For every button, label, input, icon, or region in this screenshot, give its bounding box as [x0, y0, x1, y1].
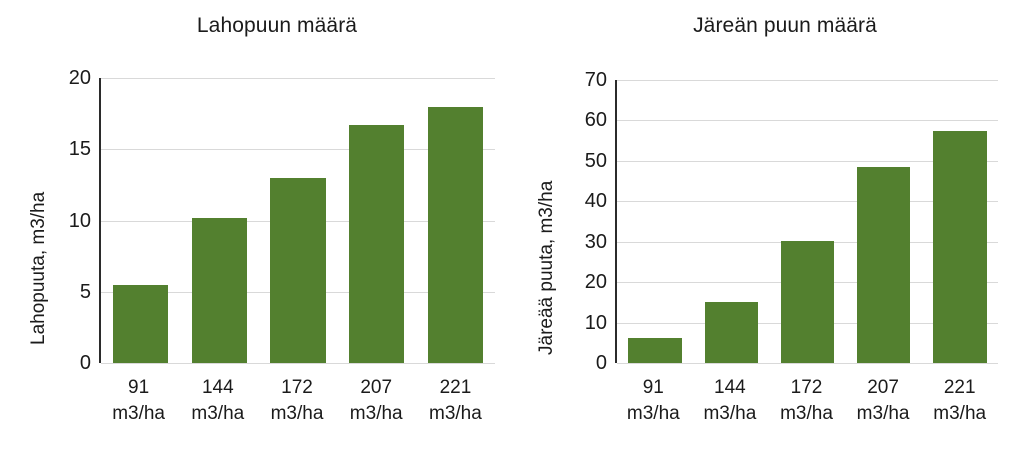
bar-slot — [180, 78, 259, 363]
plot-wrap-right: 010203040506070 91m3/ha144m3/ha172m3/ha2… — [615, 80, 998, 363]
bar-slot — [416, 78, 495, 363]
y-tick-label: 0 — [80, 353, 91, 373]
x-axis-label-unit: m3/ha — [337, 401, 416, 427]
x-axis-label-value: 91 — [99, 375, 178, 401]
x-axis-label-value: 172 — [257, 375, 336, 401]
y-tick-label: 5 — [80, 282, 91, 302]
x-axis-label-value: 207 — [845, 375, 922, 401]
x-axis-label-unit: m3/ha — [845, 401, 922, 427]
x-axis-label-unit: m3/ha — [692, 401, 769, 427]
y-tick-label: 20 — [585, 272, 607, 292]
bar-slot — [846, 80, 922, 363]
x-axis-label: 221m3/ha — [416, 375, 495, 426]
y-axis-ticks-left: 05101520 — [43, 78, 91, 363]
bar-slot — [922, 80, 998, 363]
x-axis-label-unit: m3/ha — [615, 401, 692, 427]
y-tick-label: 20 — [69, 68, 91, 88]
y-tick-label: 0 — [596, 353, 607, 373]
plot-wrap-left: 05101520 91m3/ha144m3/ha172m3/ha207m3/ha… — [99, 78, 495, 363]
bar — [270, 178, 325, 363]
x-axis-labels-left: 91m3/ha144m3/ha172m3/ha207m3/ha221m3/ha — [99, 363, 495, 426]
bar-slot — [101, 78, 180, 363]
x-axis-label: 207m3/ha — [845, 375, 922, 426]
x-axis-label-value: 172 — [768, 375, 845, 401]
bar-series-right — [617, 80, 998, 363]
y-tick-label: 10 — [585, 313, 607, 333]
x-axis-label: 207m3/ha — [337, 375, 416, 426]
bar-slot — [259, 78, 338, 363]
chart-title-left: Lahopuun määrä — [0, 14, 512, 38]
x-axis-label: 172m3/ha — [768, 375, 845, 426]
bar-series-left — [101, 78, 495, 363]
x-axis-labels-right: 91m3/ha144m3/ha172m3/ha207m3/ha221m3/ha — [615, 363, 998, 426]
bar-slot — [769, 80, 845, 363]
y-tick-label: 10 — [69, 211, 91, 231]
y-tick-label: 15 — [69, 139, 91, 159]
x-axis-label: 91m3/ha — [99, 375, 178, 426]
bar — [857, 167, 910, 363]
x-axis-label-unit: m3/ha — [257, 401, 336, 427]
y-tick-label: 40 — [585, 191, 607, 211]
bar — [428, 107, 483, 364]
x-axis-label: 144m3/ha — [178, 375, 257, 426]
x-axis-label: 172m3/ha — [257, 375, 336, 426]
chart-title-right: Järeän puun määrä — [511, 14, 1023, 38]
bar — [628, 338, 681, 363]
bar — [933, 131, 986, 363]
x-axis-label: 221m3/ha — [921, 375, 998, 426]
bar — [781, 241, 834, 363]
x-axis-label-unit: m3/ha — [99, 401, 178, 427]
y-tick-label: 50 — [585, 151, 607, 171]
y-tick-label: 60 — [585, 110, 607, 130]
bar-slot — [693, 80, 769, 363]
y-tick-label: 30 — [585, 232, 607, 252]
x-axis-label-value: 144 — [692, 375, 769, 401]
x-axis-label-unit: m3/ha — [178, 401, 257, 427]
x-axis-label: 91m3/ha — [615, 375, 692, 426]
bar-slot — [337, 78, 416, 363]
x-axis-label-value: 91 — [615, 375, 692, 401]
x-axis-label: 144m3/ha — [692, 375, 769, 426]
x-axis-label-value: 207 — [337, 375, 416, 401]
y-tick-label: 70 — [585, 70, 607, 90]
chart-panel-jarean-puun-maara: Järeän puun määrä Järeää puuta, m3/ha 01… — [511, 0, 1023, 451]
bar — [705, 302, 758, 363]
x-axis-label-value: 221 — [416, 375, 495, 401]
bar — [349, 125, 404, 363]
two-panel-bar-chart-figure: Lahopuun määrä Lahopuuta, m3/ha 05101520… — [0, 0, 1023, 451]
x-axis-label-unit: m3/ha — [921, 401, 998, 427]
x-axis-label-value: 144 — [178, 375, 257, 401]
y-axis-title-right: Järeää puuta, m3/ha — [536, 181, 558, 355]
y-axis-ticks-right: 010203040506070 — [559, 80, 607, 363]
x-axis-label-unit: m3/ha — [416, 401, 495, 427]
bar — [113, 285, 168, 363]
bar — [192, 218, 247, 363]
x-axis-label-value: 221 — [921, 375, 998, 401]
x-axis-label-unit: m3/ha — [768, 401, 845, 427]
plot-area-right — [615, 80, 998, 363]
bar-slot — [617, 80, 693, 363]
plot-area-left — [99, 78, 495, 363]
chart-panel-lahopuun-maara: Lahopuun määrä Lahopuuta, m3/ha 05101520… — [0, 0, 512, 451]
